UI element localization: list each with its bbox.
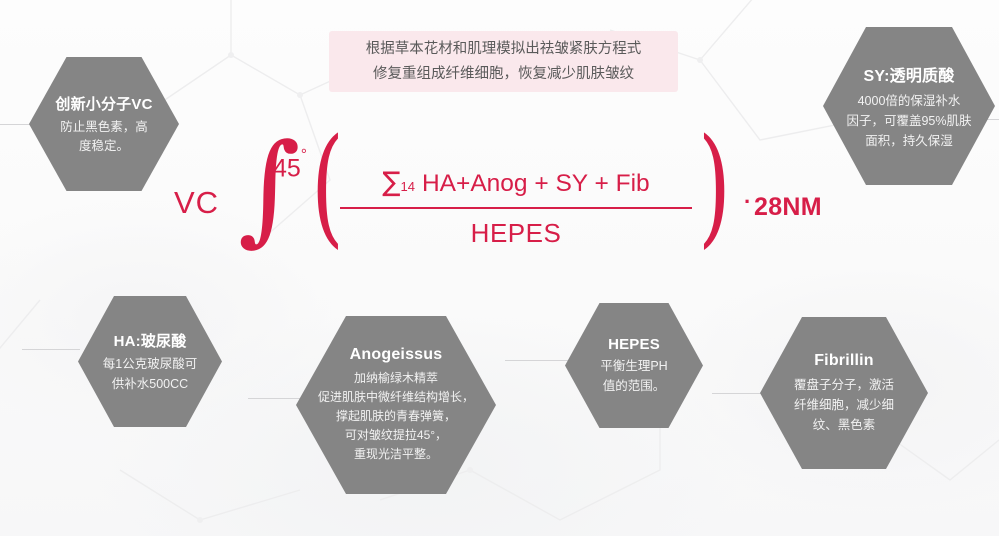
hexagon-fibrillin-line-2: 纤维细胞，减少细 xyxy=(794,395,894,415)
hexagon-fibrillin[interactable]: Fibrillin 覆盘子分子，激活 纤维细胞，减少细 纹、黑色素 xyxy=(760,317,928,469)
formula-numerator-terms: HA+Anog + SY + Fib xyxy=(422,170,650,198)
hexagon-hepes[interactable]: HEPES 平衡生理PH 值的范围。 xyxy=(565,303,703,428)
hexagon-anogeissus-line-5: 重现光洁平整。 xyxy=(318,445,474,464)
formula-paren-open: ( xyxy=(311,123,344,251)
hexagon-ha[interactable]: HA:玻尿酸 每1公克玻尿酸可 供补水500CC xyxy=(78,296,222,427)
hexagon-ha-title: HA:玻尿酸 xyxy=(114,330,187,351)
formula-sum-symbol: ∑ xyxy=(382,167,400,198)
hexagon-fibrillin-body: 覆盘子分子，激活 纤维细胞，减少细 纹、黑色素 xyxy=(794,375,894,435)
hexagon-anogeissus-line-3: 撑起肌肤的青春弹簧， xyxy=(318,407,474,426)
hexagon-anogeissus-line-4: 可对皱纹提拉45°， xyxy=(318,426,474,445)
hexagon-ha-body: 每1公克玻尿酸可 供补水500CC xyxy=(103,354,197,394)
hexagon-vc-line-2: 度稳定。 xyxy=(60,137,148,156)
formula-sum-limit: 14 xyxy=(401,179,415,194)
hexagon-hepes-title: HEPES xyxy=(608,336,660,353)
connector-line-hepes-left xyxy=(505,360,570,361)
hexagon-sy-body: 4000倍的保湿补水 因子，可覆盖95%肌肤 面积，持久保湿 xyxy=(846,91,971,151)
connector-line-ha-left xyxy=(22,349,80,350)
hexagon-sy-title: SY:透明质酸 xyxy=(864,62,955,86)
formula-denominator: HEPES xyxy=(340,209,692,249)
hexagon-sy-line-1: 4000倍的保湿补水 xyxy=(846,91,971,111)
formula-angle-value: 45 xyxy=(273,154,301,182)
hexagon-anogeissus-title: Anogeissus xyxy=(350,346,443,364)
hexagon-ha-line-2: 供补水500CC xyxy=(103,374,197,394)
hexagon-fibrillin-line-1: 覆盘子分子，激活 xyxy=(794,375,894,395)
hexagon-ha-line-1: 每1公克玻尿酸可 xyxy=(103,354,197,374)
hexagon-anogeissus-line-1: 加纳榆绿木精萃 xyxy=(318,369,474,388)
hexagon-fibrillin-title: Fibrillin xyxy=(814,352,874,370)
formula-integral-sign: ∫ xyxy=(238,129,301,249)
formula-angle: 45° xyxy=(273,154,307,183)
hexagon-hepes-line-2: 值的范围。 xyxy=(600,376,667,396)
intro-note-line-2: 修复重组成纤维细胞，恢复减少肌肤皱纹 xyxy=(373,62,634,87)
hexagon-hepes-body: 平衡生理PH 值的范围。 xyxy=(600,356,667,396)
formula-multiply-dot: · xyxy=(744,189,751,215)
hexagon-vc-line-1: 防止黑色素，高 xyxy=(60,118,148,137)
intro-note-line-1: 根据草本花材和肌理模拟出祛皱紧肤方程式 xyxy=(366,37,642,62)
infographic-canvas: 根据草本花材和肌理模拟出祛皱紧肤方程式 修复重组成纤维细胞，恢复减少肌肤皱纹 创… xyxy=(0,0,999,536)
formula-paren-close: ) xyxy=(698,123,731,251)
intro-note: 根据草本花材和肌理模拟出祛皱紧肤方程式 修复重组成纤维细胞，恢复减少肌肤皱纹 xyxy=(329,31,678,92)
formula-fraction: ∑14HA+Anog + SY + Fib HEPES xyxy=(340,167,692,249)
hexagon-anogeissus-line-2: 促进肌肤中微纤维结构增长， xyxy=(318,388,474,407)
formula-degree-symbol: ° xyxy=(301,146,307,163)
hexagon-fibrillin-line-3: 纹、黑色素 xyxy=(794,415,894,435)
hexagon-hepes-line-1: 平衡生理PH xyxy=(600,356,667,376)
hexagon-vc[interactable]: 创新小分子VC 防止黑色素，高 度稳定。 xyxy=(29,57,179,191)
hexagon-sy[interactable]: SY:透明质酸 4000倍的保湿补水 因子，可覆盖95%肌肤 面积，持久保湿 xyxy=(823,27,995,185)
hexagon-vc-title: 创新小分子VC xyxy=(55,93,152,114)
hexagon-vc-body: 防止黑色素，高 度稳定。 xyxy=(60,118,148,156)
central-formula: VC ∫ 45° ( ) ∑14HA+Anog + SY + Fib HEPES… xyxy=(170,145,830,270)
hexagon-sy-line-2: 因子，可覆盖95%肌肤 xyxy=(846,111,971,131)
formula-numerator: ∑14HA+Anog + SY + Fib xyxy=(340,167,692,207)
hexagon-anogeissus-body: 加纳榆绿木精萃 促进肌肤中微纤维结构增长， 撑起肌肤的青春弹簧， 可对皱纹提拉4… xyxy=(318,369,474,464)
formula-vc: VC xyxy=(174,185,219,221)
formula-result: 28NM xyxy=(754,193,822,222)
hexagon-sy-line-3: 面积，持久保湿 xyxy=(846,131,971,151)
hexagon-anogeissus[interactable]: Anogeissus 加纳榆绿木精萃 促进肌肤中微纤维结构增长， 撑起肌肤的青春… xyxy=(296,316,496,494)
